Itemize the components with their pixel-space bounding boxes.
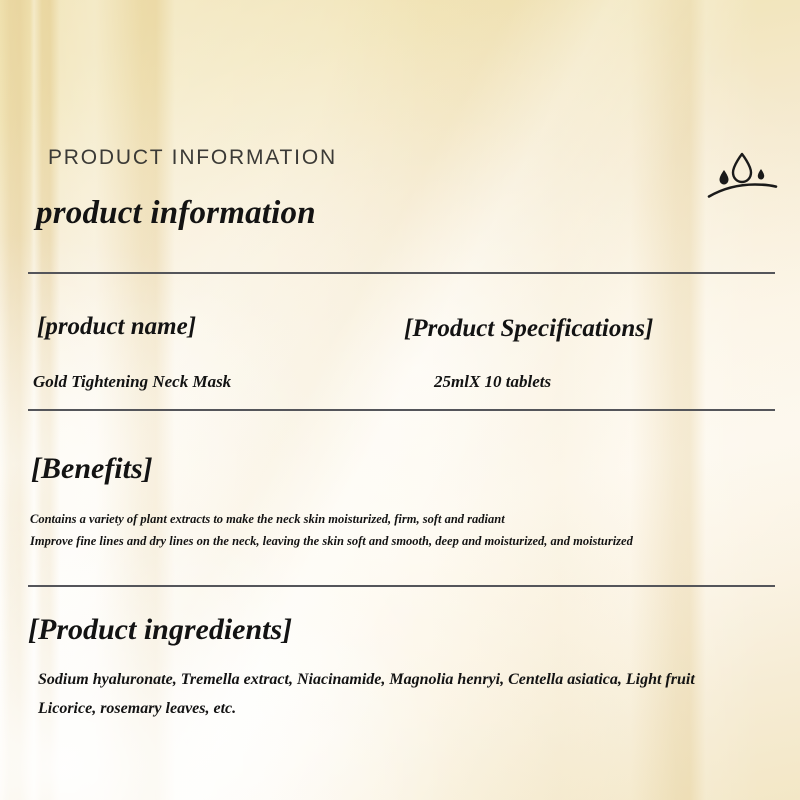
divider-bottom (28, 585, 775, 587)
benefits-heading: [Benefits] (31, 452, 153, 486)
product-name-label: [product name] (37, 313, 196, 341)
product-specifications-value: 25mlX 10 tablets (434, 372, 551, 392)
product-name-value: Gold Tightening Neck Mask (33, 372, 231, 392)
benefits-line: Contains a variety of plant extracts to … (30, 508, 770, 530)
benefits-line: Improve fine lines and dry lines on the … (30, 530, 770, 552)
water-droplet-icon (706, 148, 778, 200)
benefits-body: Contains a variety of plant extracts to … (30, 508, 770, 552)
eyebrow-label: PRODUCT INFORMATION (48, 146, 337, 170)
ingredients-line: Sodium hyaluronate, Tremella extract, Ni… (38, 665, 768, 694)
ingredients-line: Licorice, rosemary leaves, etc. (38, 694, 768, 723)
product-specifications-label: [Product Specifications] (404, 315, 653, 343)
divider-middle (28, 409, 775, 411)
ingredients-heading: [Product ingredients] (28, 613, 292, 647)
ingredients-body: Sodium hyaluronate, Tremella extract, Ni… (38, 665, 768, 723)
page-title: product information (36, 195, 316, 232)
product-information-panel: PRODUCT INFORMATION product information … (0, 0, 800, 800)
divider-top (28, 272, 775, 274)
